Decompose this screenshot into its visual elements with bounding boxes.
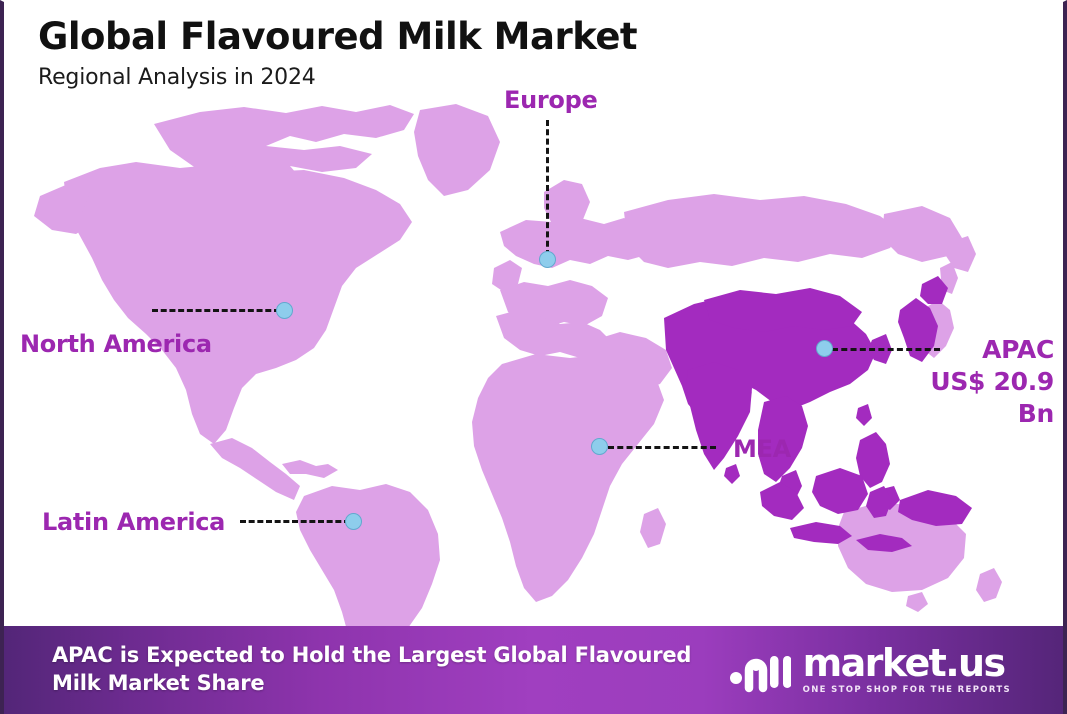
header: Global Flavoured Milk Market Regional An… <box>38 18 637 90</box>
brand-logo[interactable]: market.us ONE STOP SHOP FOR THE REPORTS <box>729 644 1037 696</box>
logo-wordmark: market.us <box>803 645 1005 681</box>
logo-text-block: market.us ONE STOP SHOP FOR THE REPORTS <box>803 645 1011 694</box>
banner-headline: APAC is Expected to Hold the Largest Glo… <box>52 642 729 697</box>
infographic-root: Global Flavoured Milk Market Regional An… <box>0 0 1067 714</box>
leader-europe <box>546 120 549 256</box>
market-us-logo-mark-icon <box>729 644 791 696</box>
label-europe: Europe <box>504 86 597 114</box>
marker-apac[interactable] <box>816 340 833 357</box>
label-mea: MEA <box>733 435 791 463</box>
label-apac-unit: Bn <box>904 398 1054 430</box>
label-apac: APAC <box>904 334 1054 366</box>
marker-latin-america[interactable] <box>345 513 362 530</box>
marker-north-america[interactable] <box>276 302 293 319</box>
leader-latin-america <box>240 520 350 523</box>
logo-tagline: ONE STOP SHOP FOR THE REPORTS <box>803 685 1011 695</box>
label-apac-value: US$ 20.9 <box>904 366 1054 398</box>
marker-mea[interactable] <box>591 438 608 455</box>
page-subtitle: Regional Analysis in 2024 <box>38 65 637 90</box>
page-title: Global Flavoured Milk Market <box>38 18 637 57</box>
label-apac-group: APAC US$ 20.9 Bn <box>904 334 1054 430</box>
label-north-america: North America <box>20 330 212 358</box>
region-annotations: North America Europe Latin America MEA A… <box>4 2 1063 632</box>
marker-europe[interactable] <box>539 251 556 268</box>
leader-north-america <box>152 309 280 312</box>
leader-mea <box>608 446 716 449</box>
bottom-banner: APAC is Expected to Hold the Largest Glo… <box>4 626 1063 714</box>
label-latin-america: Latin America <box>42 508 225 536</box>
